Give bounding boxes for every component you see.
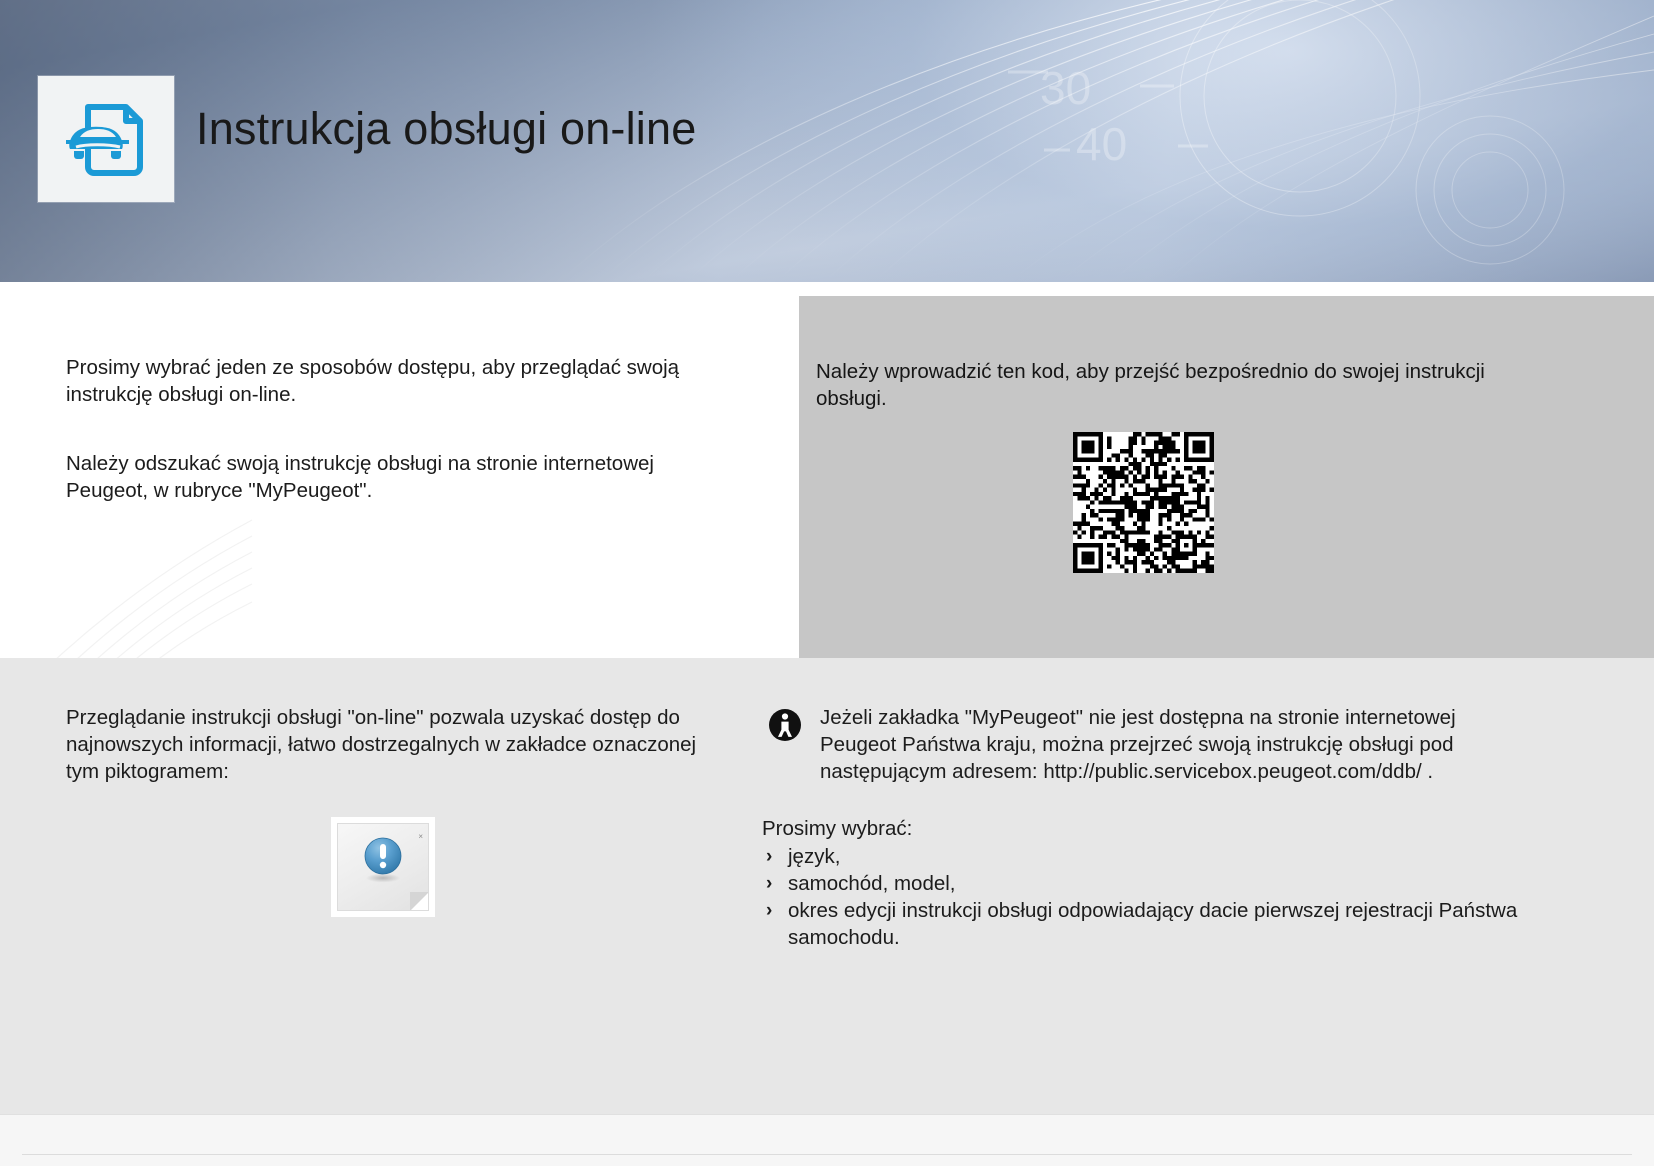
info-note-text: Jeżeli zakładka "MyPeugeot" nie jest dos… [820,704,1532,785]
pictogram-folded-corner [410,892,429,911]
car-document-icon [58,91,154,187]
upper-left-text-block: Prosimy wybrać jeden ze sposobów dostępu… [66,354,726,504]
list-item-label: okres edycji instrukcji obsługi odpowiad… [788,899,1517,949]
qr-code-panel: Należy wprowadzić ten kod, aby przejść b… [799,296,1654,658]
chevron-right-icon: › [766,870,772,897]
lower-section: Przeglądanie instrukcji obsługi "on-line… [0,658,1654,1114]
list-item: › samochód, model, [762,870,1532,897]
upper-paragraph-1: Prosimy wybrać jeden ze sposobów dostępu… [66,354,726,408]
page-header: 30 40 [0,0,1654,282]
qr-panel-text: Należy wprowadzić ten kod, aby przejść b… [816,358,1496,412]
list-item: › okres edycji instrukcji obsługi odpowi… [762,897,1532,951]
lower-left-text-block: Przeglądanie instrukcji obsługi "on-line… [66,704,726,785]
choose-label: Prosimy wybrać: [762,815,1532,842]
page-footer [0,1114,1654,1166]
exclamation-circle-icon [358,834,408,884]
pictogram-page: × [337,823,429,911]
list-item: › język, [762,843,1532,870]
pictogram-frame: × [331,817,435,917]
info-note: Jeżeli zakładka "MyPeugeot" nie jest dos… [762,704,1532,785]
header-icon-badge [38,76,174,202]
lower-right-block: Jeżeli zakładka "MyPeugeot" nie jest dos… [762,704,1532,951]
list-item-label: język, [788,845,840,868]
chevron-right-icon: › [766,897,772,924]
choice-list: › język, › samochód, model, › okres edyc… [762,843,1532,951]
pictogram-illustration: × [331,817,435,917]
info-icon [768,708,802,742]
chevron-right-icon: › [766,843,772,870]
page-title: Instrukcja obsługi on-line [196,103,696,155]
lower-left-paragraph: Przeglądanie instrukcji obsługi "on-line… [66,704,726,785]
page-root: 30 40 [0,0,1654,1166]
svg-text:40: 40 [1076,118,1127,170]
upper-paragraph-2: Należy odszukać swoją instrukcję obsługi… [66,450,726,504]
footer-divider [22,1154,1632,1155]
pictogram-close-glyph: × [418,833,423,841]
qr-code-image [1073,432,1214,573]
svg-text:30: 30 [1040,62,1091,114]
list-item-label: samochód, model, [788,872,956,895]
paragraph-spacer [66,408,726,450]
